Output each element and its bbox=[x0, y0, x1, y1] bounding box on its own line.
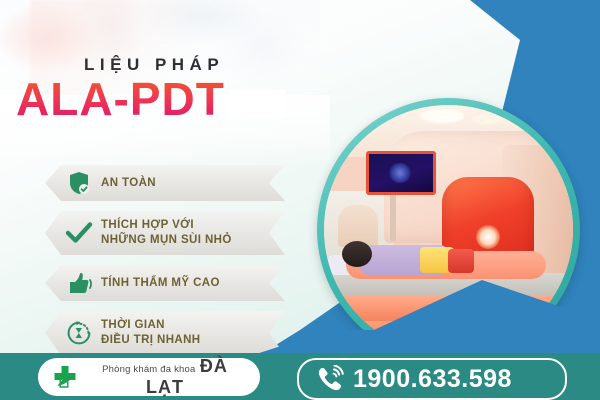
photo-patient-head bbox=[342, 241, 372, 267]
photo-monitor bbox=[366, 151, 436, 195]
clinic-badge[interactable]: Phòng khám đa khoa ĐÀ LẠT bbox=[38, 358, 260, 396]
feature-label: TÍNH THẨM MỸ CAO bbox=[101, 276, 220, 291]
hotline-number: 1900.633.598 bbox=[353, 365, 512, 394]
thumbs-up-icon bbox=[57, 271, 101, 295]
feature-label: THÍCH HỢP VỚI NHỮNG MỤN SÙI NHỎ bbox=[101, 218, 232, 248]
photo-monitor-logo bbox=[389, 163, 411, 183]
green-cross-leaf-logo-icon bbox=[46, 363, 84, 391]
feature-label: AN TOÀN bbox=[101, 176, 156, 191]
photo-monitor-arm bbox=[390, 189, 396, 241]
check-mark-icon bbox=[57, 221, 101, 245]
feature-item-safety[interactable]: AN TOÀN bbox=[45, 165, 285, 201]
feature-label-line1: THỜI GIAN bbox=[101, 318, 201, 333]
phone-ringing-icon bbox=[307, 365, 353, 393]
feature-list: AN TOÀN THÍCH HỢP VỚI NHỮNG MỤN SÙI NHỎ bbox=[45, 165, 285, 365]
feature-label-line2: NHỮNG MỤN SÙI NHỎ bbox=[101, 233, 232, 248]
feature-item-speed[interactable]: THỜI GIAN ĐIỀU TRỊ NHANH bbox=[45, 311, 285, 355]
feature-label: THỜI GIAN ĐIỀU TRỊ NHANH bbox=[101, 318, 201, 348]
clinic-text: Phòng khám đa khoa ĐÀ LẠT bbox=[90, 356, 240, 398]
clinic-subtitle: Phòng khám đa khoa bbox=[102, 364, 195, 375]
photo-ceiling-light bbox=[420, 109, 464, 123]
headline-kicker: LIỆU PHÁP bbox=[84, 55, 224, 75]
photo-emitter-lens bbox=[476, 225, 500, 249]
feature-label-line1: AN TOÀN bbox=[101, 177, 156, 189]
photo-patient-waist bbox=[448, 249, 474, 273]
promo-banner: LIỆU PHÁP ALA-PDT AN TOÀN bbox=[0, 0, 600, 400]
clinic-name: ĐÀ LẠT bbox=[146, 356, 228, 397]
photo-ceiling-light-2 bbox=[472, 115, 502, 124]
feature-label-line1: THÍCH HỢP VỚI bbox=[101, 218, 232, 233]
page-title: ALA-PDT bbox=[16, 76, 225, 122]
feature-item-aesthetics[interactable]: TÍNH THẨM MỸ CAO bbox=[45, 265, 285, 301]
hotline-button[interactable]: 1900.633.598 bbox=[297, 358, 567, 400]
feature-item-suitability[interactable]: THÍCH HỢP VỚI NHỮNG MỤN SÙI NHỎ bbox=[45, 211, 285, 255]
feature-label-line2: ĐIỀU TRỊ NHANH bbox=[101, 333, 201, 348]
feature-label-line1: TÍNH THẨM MỸ CAO bbox=[101, 277, 220, 289]
shield-check-icon bbox=[57, 171, 101, 195]
clock-fast-icon bbox=[57, 320, 101, 346]
redacted-block bbox=[229, 90, 286, 118]
